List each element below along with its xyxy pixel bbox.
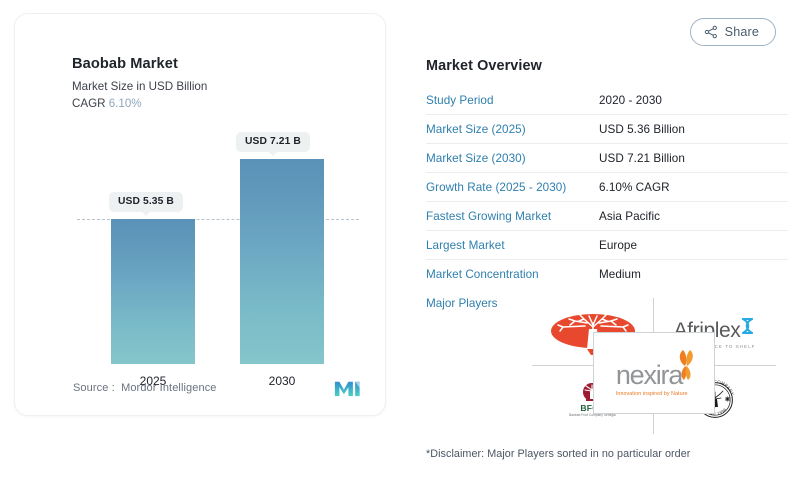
chart-footer: Source : Mordor Intelligence <box>73 379 361 397</box>
row-label: Market Size (2030) <box>426 152 599 165</box>
overview-table: Study Period 2020 - 2030 Market Size (20… <box>426 86 788 325</box>
afriplex-dna-icon <box>739 315 756 337</box>
chart-subtitle: Market Size in USD Billion <box>72 80 207 94</box>
table-row-study-period: Study Period 2020 - 2030 <box>426 86 788 115</box>
bar-label-2030: USD 7.21 B <box>236 132 310 152</box>
row-label: Growth Rate (2025 - 2030) <box>426 181 599 194</box>
share-nodes-icon <box>704 25 718 39</box>
row-value: Asia Pacific <box>599 210 660 223</box>
row-value: Europe <box>599 239 637 252</box>
logo-cell-nexira[interactable]: nexira Innovation inspired by Nature <box>593 332 715 414</box>
table-row-fastest-growing-market: Fastest Growing Market Asia Pacific <box>426 202 788 231</box>
disclaimer-text: *Disclaimer: Major Players sorted in no … <box>426 448 690 460</box>
nexira-logo: nexira Innovation inspired by Nature <box>610 349 698 397</box>
chart-card: Baobab Market Market Size in USD Billion… <box>14 13 386 416</box>
table-row-largest-market: Largest Market Europe <box>426 231 788 260</box>
table-row-market-size-2030: Market Size (2030) USD 7.21 Billion <box>426 144 788 173</box>
share-button[interactable]: Share <box>690 18 776 46</box>
table-row-growth-rate: Growth Rate (2025 - 2030) 6.10% CAGR <box>426 173 788 202</box>
row-value: Medium <box>599 268 641 281</box>
bar-chart-plot: USD 5.35 B USD 7.21 B 2025 2030 <box>15 134 387 364</box>
row-label: Study Period <box>426 94 599 107</box>
row-label: Market Size (2025) <box>426 123 599 136</box>
overview-panel: Share Market Overview Study Period 2020 … <box>410 8 788 476</box>
bar-2025[interactable] <box>111 219 195 364</box>
source-attribution: Source : Mordor Intelligence <box>73 382 217 394</box>
mordor-intelligence-logo <box>334 379 361 397</box>
row-value: 6.10% CAGR <box>599 181 670 194</box>
cagr-label: CAGR <box>72 97 106 110</box>
row-value: USD 7.21 Billion <box>599 152 685 165</box>
major-players-logo-grid: Afriplex SOURCE TO SHELF <box>532 298 776 434</box>
row-label: Largest Market <box>426 239 599 252</box>
nexira-tagline: Innovation inspired by Nature <box>616 391 688 397</box>
source-name: Mordor Intelligence <box>121 382 216 394</box>
row-label: Fastest Growing Market <box>426 210 599 223</box>
table-row-market-size-2025: Market Size (2025) USD 5.36 Billion <box>426 115 788 144</box>
bar-2030[interactable] <box>240 159 324 364</box>
share-button-label: Share <box>725 25 759 39</box>
nexira-wordmark: nexira <box>616 363 682 387</box>
bar-label-2025: USD 5.35 B <box>109 192 183 212</box>
row-value: 2020 - 2030 <box>599 94 662 107</box>
market-overview-widget: Baobab Market Market Size in USD Billion… <box>0 0 800 482</box>
nexira-butterfly-icon <box>676 349 698 383</box>
overview-title: Market Overview <box>426 58 542 74</box>
chart-title: Baobab Market <box>72 56 207 74</box>
chart-header: Baobab Market Market Size in USD Billion… <box>72 56 207 111</box>
source-label: Source : <box>73 382 115 394</box>
row-label: Market Concentration <box>426 268 599 281</box>
chart-cagr: CAGR 6.10% <box>72 97 207 111</box>
bfcs-tagline: Baobab Fruit Company Senegal <box>569 414 616 418</box>
table-row-market-concentration: Market Concentration Medium <box>426 260 788 289</box>
row-value: USD 5.36 Billion <box>599 123 685 136</box>
cagr-value: 6.10% <box>109 97 142 110</box>
